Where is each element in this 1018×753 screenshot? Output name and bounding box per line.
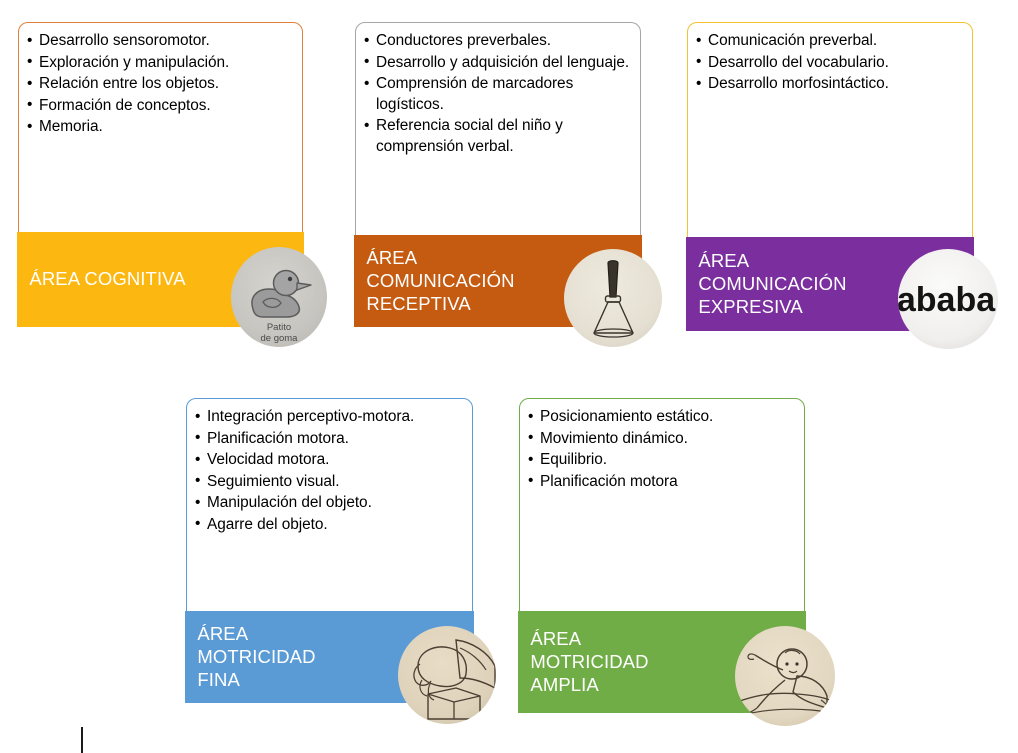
list-item: Comprensión de marcadores logísticos.: [364, 74, 630, 115]
text-cursor: [81, 727, 83, 753]
list-item: Comunicación preverbal.: [696, 31, 962, 52]
list-item: Movimiento dinámico.: [528, 429, 794, 450]
list-item: Formación de conceptos.: [27, 96, 292, 117]
card-body: Posicionamiento estático. Movimiento din…: [520, 399, 804, 611]
list-item: Desarrollo morfosintáctico.: [696, 74, 962, 95]
list-item: Memoria.: [27, 117, 292, 138]
card-body: Integración perceptivo-motora. Planifica…: [187, 399, 472, 611]
rubber-duck-photo: Patito de goma: [231, 247, 327, 347]
card-body: Conductores preverbales. Desarrollo y ad…: [356, 23, 640, 233]
card-title: ÁREA COGNITIVA: [17, 267, 185, 290]
list-item: Seguimiento visual.: [195, 472, 462, 493]
list-item: Posicionamiento estático.: [528, 407, 794, 428]
bullet-list: Integración perceptivo-motora. Planifica…: [195, 407, 462, 535]
list-item: Agarre del objeto.: [195, 515, 462, 536]
list-item: Planificación motora.: [195, 429, 462, 450]
card-body: Desarrollo sensoromotor. Exploración y m…: [19, 23, 302, 231]
list-item: Velocidad motora.: [195, 450, 462, 471]
babbling-caption: ababa: [898, 281, 996, 319]
babbling-text-photo: ababa: [898, 249, 998, 349]
list-item: Exploración y manipulación.: [27, 53, 292, 74]
list-item: Conductores preverbales.: [364, 31, 630, 52]
list-item: Relación entre los objetos.: [27, 74, 292, 95]
bullet-list: Desarrollo sensoromotor. Exploración y m…: [27, 31, 292, 138]
card-title: ÁREA COMUNICACIÓN RECEPTIVA: [354, 246, 514, 316]
list-item: Desarrollo del vocabulario.: [696, 53, 962, 74]
hand-bell-photo: [564, 249, 662, 347]
slide-canvas: Desarrollo sensoromotor. Exploración y m…: [0, 0, 1018, 753]
card-title: ÁREA MOTRICIDAD AMPLIA: [518, 627, 648, 697]
baby-prone-photo: [735, 626, 835, 726]
hand-grasping-block-photo: [398, 626, 496, 724]
hand-bell-illustration: [564, 249, 662, 347]
list-item: Integración perceptivo-motora.: [195, 407, 462, 428]
duck-caption-line2: de goma: [261, 333, 299, 344]
list-item: Manipulación del objeto.: [195, 493, 462, 514]
bullet-list: Comunicación preverbal. Desarrollo del v…: [696, 31, 962, 95]
list-item: Desarrollo sensoromotor.: [27, 31, 292, 52]
duck-caption-line1: Patito: [267, 322, 291, 333]
bullet-list: Posicionamiento estático. Movimiento din…: [528, 407, 794, 492]
list-item: Planificación motora: [528, 472, 794, 493]
bullet-list: Conductores preverbales. Desarrollo y ad…: [364, 31, 630, 157]
card-body: Comunicación preverbal. Desarrollo del v…: [688, 23, 972, 237]
baby-prone-illustration: [735, 626, 835, 726]
card-title: ÁREA COMUNICACIÓN EXPRESIVA: [686, 249, 846, 319]
card-title: ÁREA MOTRICIDAD FINA: [185, 622, 315, 692]
list-item: Referencia social del niño y comprensión…: [364, 116, 630, 157]
list-item: Equilibrio.: [528, 450, 794, 471]
rubber-duck-illustration: Patito de goma: [231, 247, 327, 347]
babbling-text-illustration: ababa: [898, 249, 998, 349]
hand-grasping-block-illustration: [398, 626, 496, 724]
list-item: Desarrollo y adquisición del lenguaje.: [364, 53, 630, 74]
